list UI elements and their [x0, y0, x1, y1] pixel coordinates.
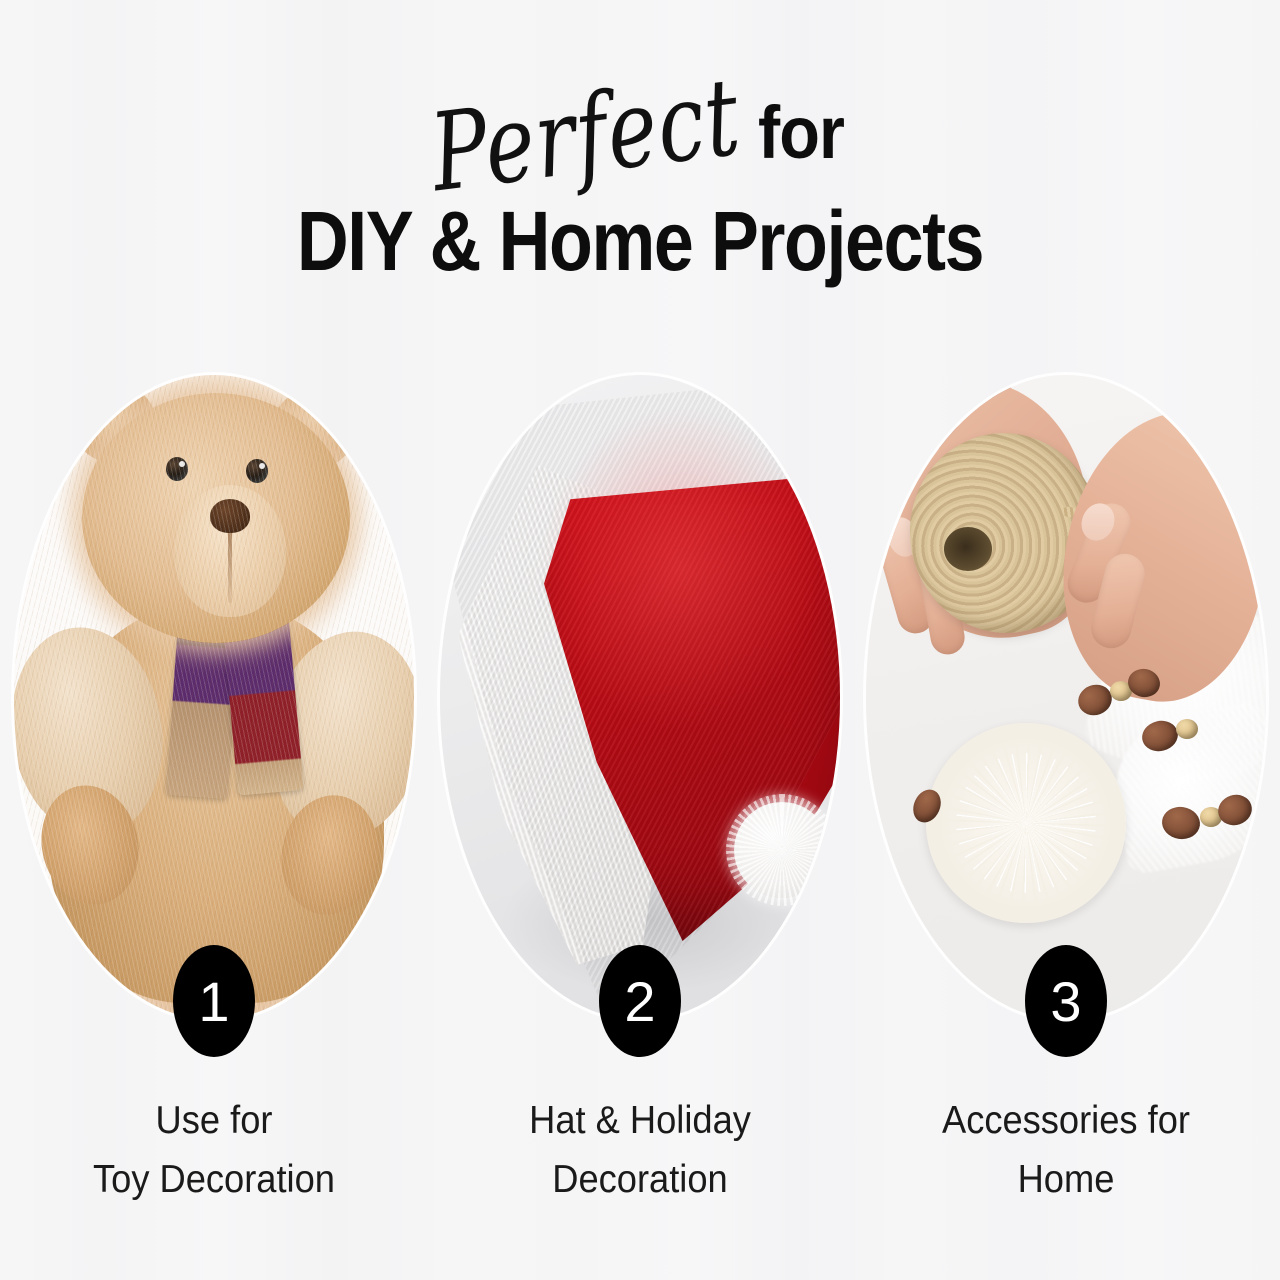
teddy-bear-photo [14, 375, 414, 1020]
feature-card-3[interactable]: 3 Accessories for Home [866, 375, 1266, 935]
card-1-image-frame [14, 375, 414, 1020]
card-2-image-frame [440, 375, 840, 1020]
hat-pompom-icon [734, 802, 830, 898]
page-title: DIY & Home Projects [51, 192, 1229, 290]
spool-center-hole [944, 527, 992, 571]
dreamcatcher-web [956, 753, 1096, 893]
feature-card-1[interactable]: 1 Use for Toy Decoration [14, 375, 414, 935]
bear-eye-right-icon [246, 459, 268, 483]
bear-mouth [228, 531, 232, 603]
card-3-caption: Accessories for Home [880, 1091, 1252, 1209]
dreamcatcher [926, 723, 1126, 923]
feature-card-2[interactable]: 2 Hat & Holiday Decoration [440, 375, 840, 935]
card-3-number-badge: 3 [1025, 945, 1107, 1057]
promo-infographic-page: Perfectfor DIY & Home Projects [0, 0, 1280, 1280]
craft-twine-photo [866, 375, 1266, 1020]
heading-line-one: Perfectfor [0, 78, 1280, 190]
santa-hat-photo [440, 375, 840, 1020]
bear-eye-left-icon [166, 457, 188, 481]
bead-5 [1176, 719, 1198, 739]
card-2-number-badge: 2 [599, 945, 681, 1057]
pompom-fluff-texture [726, 794, 838, 906]
card-1-caption: Use for Toy Decoration [28, 1091, 400, 1209]
bear-nose-icon [210, 499, 250, 533]
card-2-caption: Hat & Holiday Decoration [454, 1091, 826, 1209]
card-3-image-frame [866, 375, 1266, 1020]
feature-card-row: 1 Use for Toy Decoration [0, 375, 1280, 935]
page-heading: Perfectfor DIY & Home Projects [0, 78, 1280, 287]
heading-bold-word: for [758, 77, 844, 189]
card-1-number-badge: 1 [173, 945, 255, 1057]
